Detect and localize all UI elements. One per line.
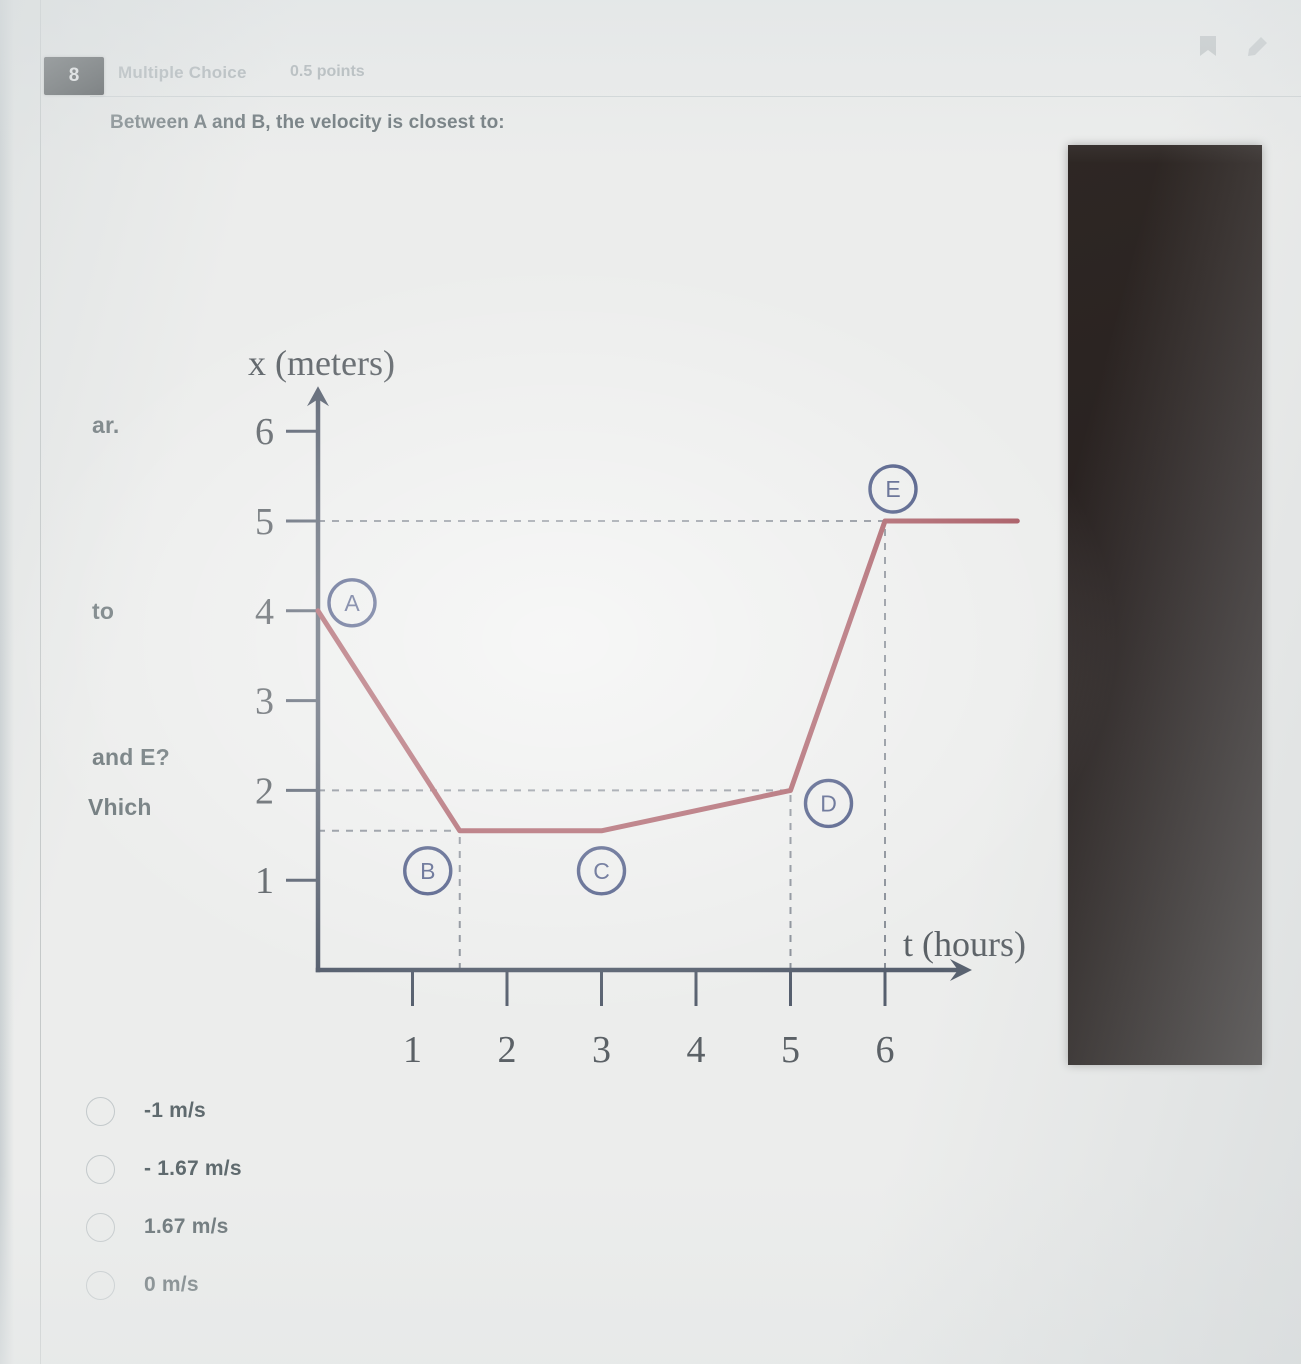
answer-option[interactable]: -1 m/s — [86, 1082, 242, 1140]
marker-label: B — [420, 858, 435, 884]
answer-options: -1 m/s- 1.67 m/s1.67 m/s0 m/s — [86, 1082, 242, 1314]
point-marker-d: D — [806, 780, 852, 826]
y-tick-label: 6 — [255, 411, 274, 453]
answer-option-label: 1.67 m/s — [144, 1215, 229, 1239]
x-tick-label: 1 — [403, 1029, 422, 1071]
y-tick-label: 3 — [255, 681, 274, 723]
answer-option-label: -1 m/s — [144, 1099, 206, 1123]
y-tick-label: 2 — [255, 770, 274, 812]
pencil-icon[interactable] — [1245, 35, 1269, 64]
header-actions — [1197, 34, 1269, 65]
answer-option[interactable]: 1.67 m/s — [86, 1198, 242, 1256]
axis-ticks — [286, 431, 885, 1006]
radio-button[interactable] — [86, 1213, 115, 1242]
y-tick-label: 5 — [255, 501, 274, 543]
x-axis-title: t (hours) — [903, 924, 1026, 964]
axis-tick-labels: 123456123456x (meters)t (hours) — [248, 343, 1026, 1071]
x-tick-label: 3 — [592, 1029, 611, 1071]
point-marker-c: C — [579, 848, 625, 894]
answer-option[interactable]: 0 m/s — [86, 1256, 242, 1314]
radio-button[interactable] — [86, 1097, 115, 1126]
data-curve — [318, 521, 1017, 831]
marker-label: D — [820, 790, 837, 816]
answer-option[interactable]: - 1.67 m/s — [86, 1140, 242, 1198]
y-tick-label: 1 — [255, 860, 274, 902]
y-axis-title: x (meters) — [248, 343, 395, 383]
flag-icon[interactable] — [1197, 34, 1219, 65]
radio-button[interactable] — [86, 1271, 115, 1300]
point-marker-a: A — [329, 580, 375, 626]
point-marker-e: E — [870, 466, 916, 512]
marker-label: A — [344, 590, 360, 616]
dark-occluding-block — [1068, 145, 1262, 1065]
point-marker-b: B — [405, 848, 451, 894]
radio-button[interactable] — [86, 1155, 115, 1184]
marker-label: E — [885, 476, 900, 502]
x-tick-label: 4 — [687, 1029, 706, 1071]
x-tick-label: 2 — [498, 1029, 517, 1071]
answer-option-label: - 1.67 m/s — [144, 1157, 242, 1181]
marker-label: C — [593, 858, 610, 884]
y-tick-label: 4 — [255, 591, 274, 633]
x-tick-label: 6 — [876, 1029, 895, 1071]
axes — [307, 386, 972, 981]
position-curve — [318, 521, 1017, 831]
answer-option-label: 0 m/s — [144, 1273, 199, 1297]
x-tick-label: 5 — [781, 1029, 800, 1071]
